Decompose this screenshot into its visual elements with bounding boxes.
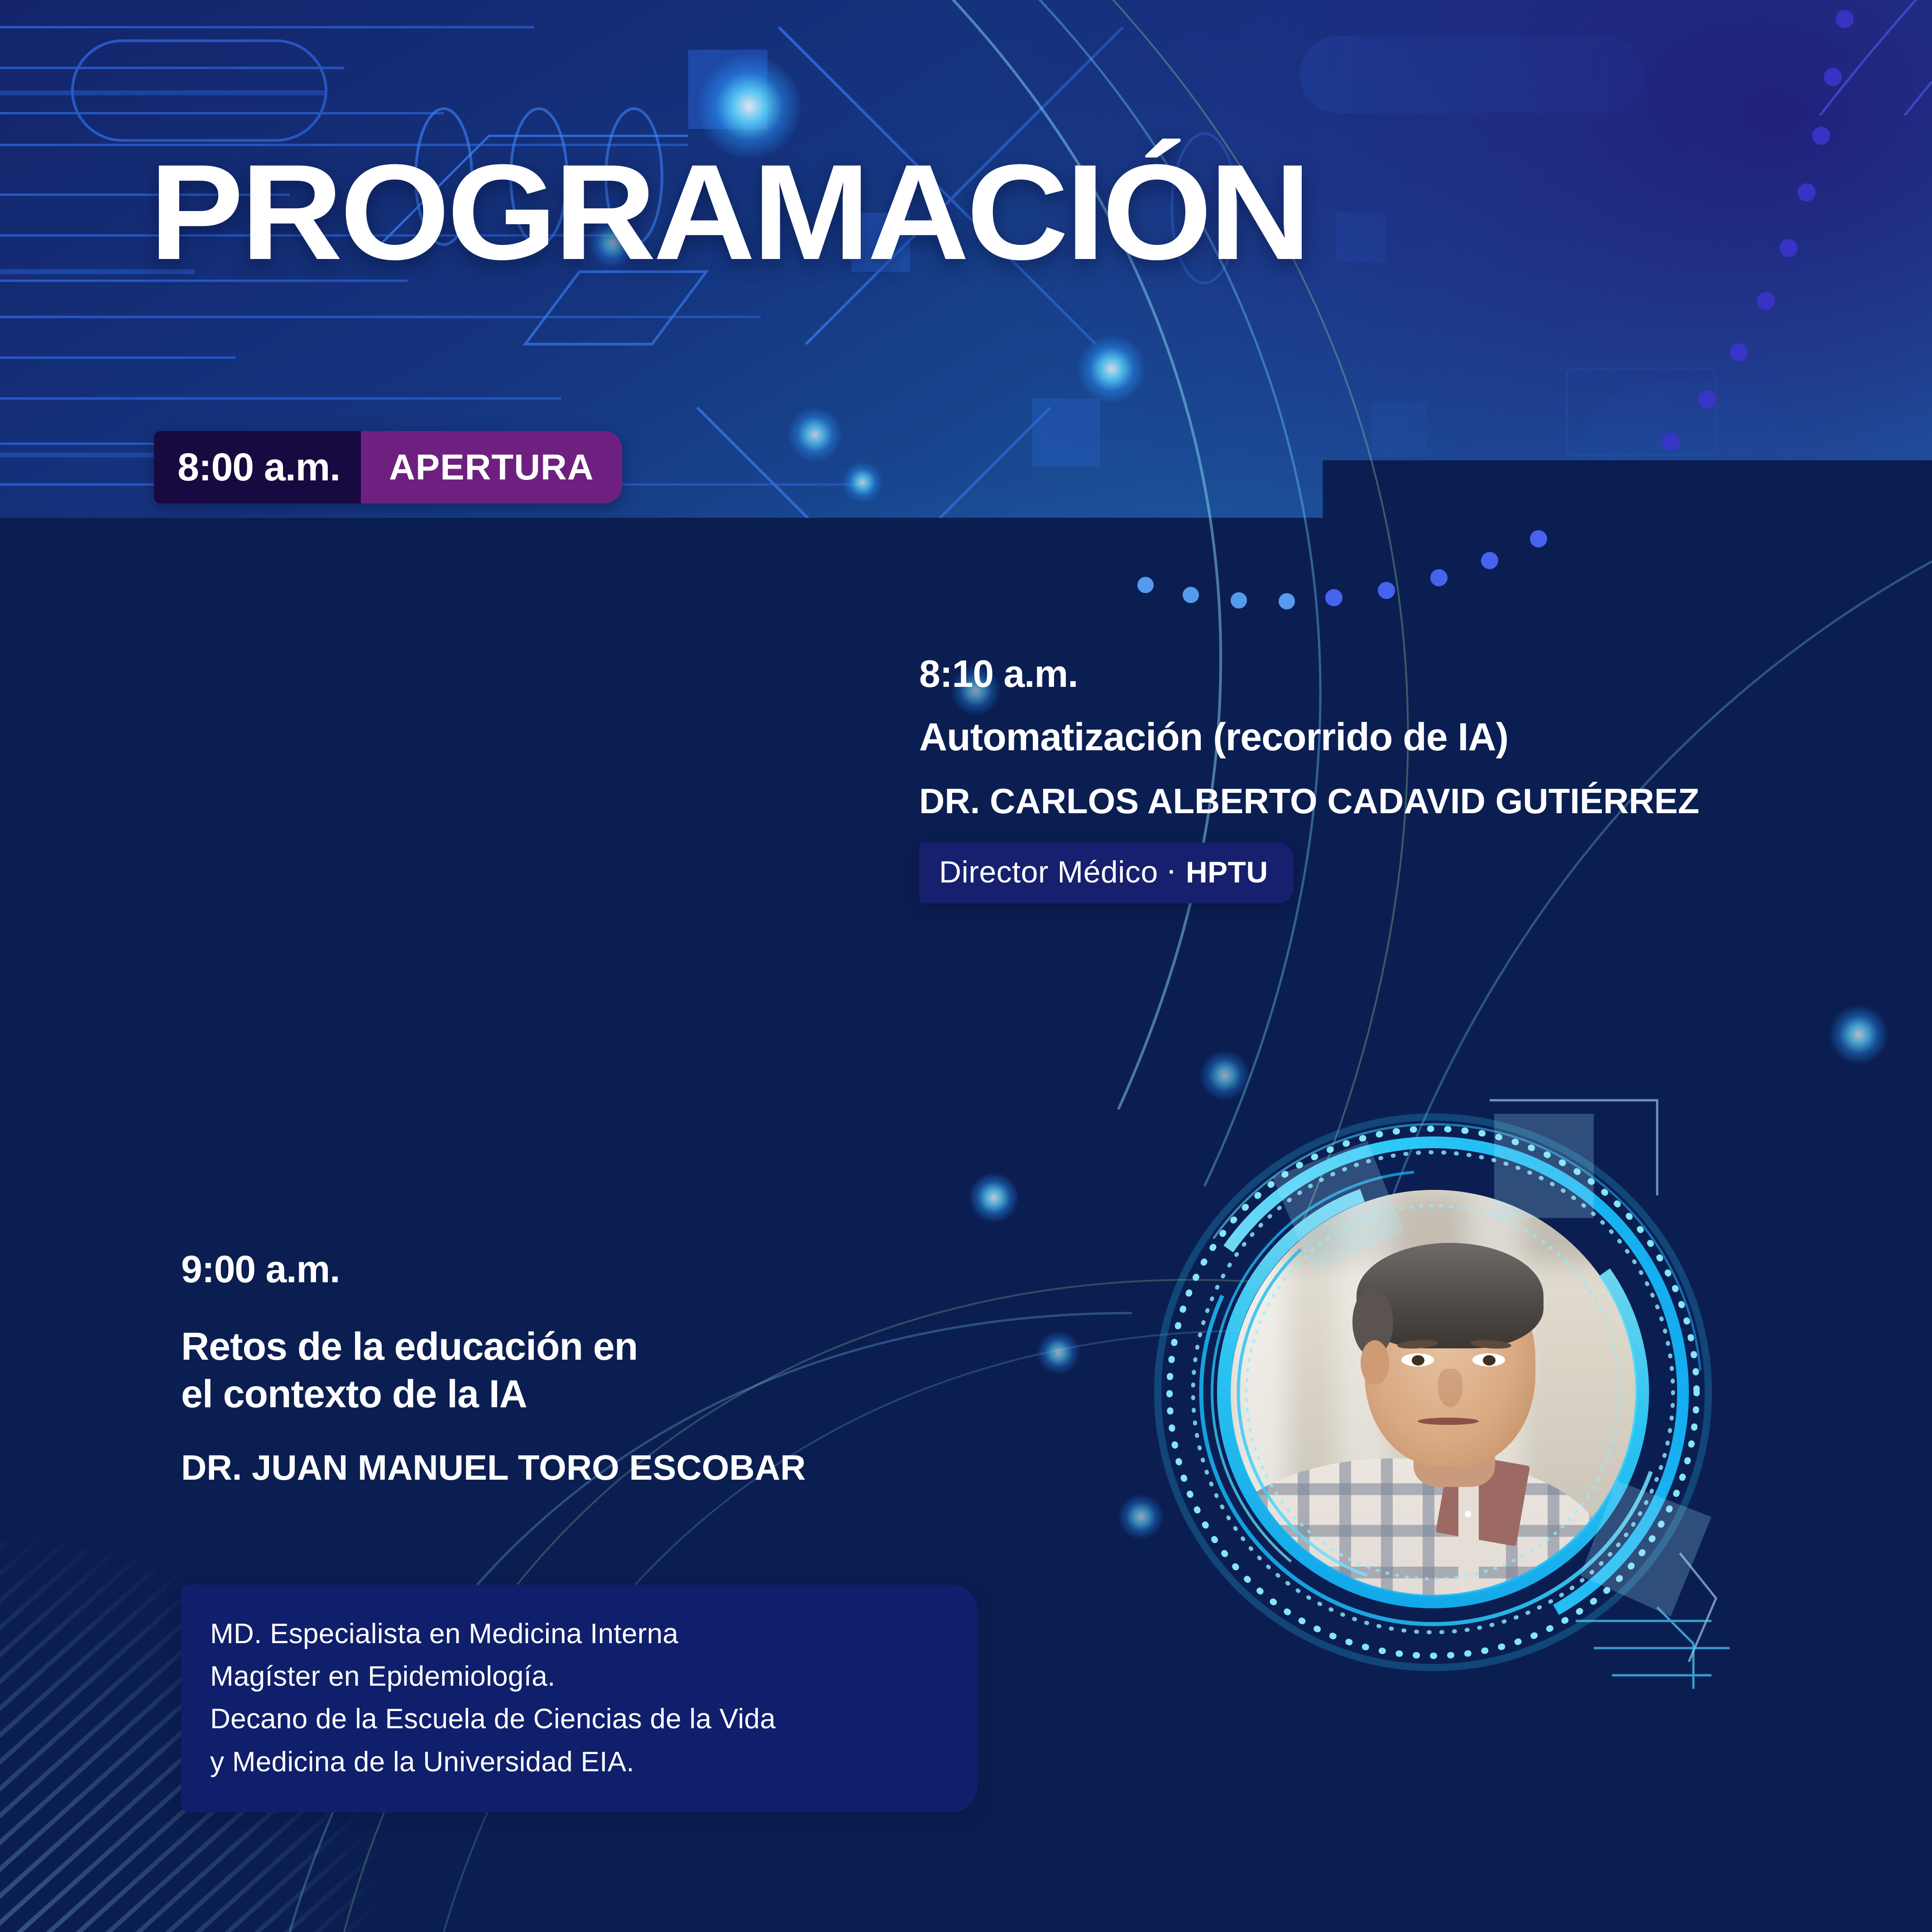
- session-1-time: 8:10 a.m.: [919, 652, 1816, 696]
- bio-line: Decano de la Escuela de Ciencias de la V…: [210, 1698, 946, 1740]
- opening-time: 8:00 a.m.: [154, 431, 361, 503]
- session-2-title: Retos de la educación en el contexto de …: [181, 1323, 1087, 1418]
- session-2-bio-box: MD. Especialista en Medicina Interna Mag…: [181, 1585, 978, 1812]
- speaker-photo-2: [1123, 1082, 1743, 1702]
- session-1-role: Director Médico: [939, 854, 1158, 890]
- session-1-speaker: DR. CARLOS ALBERTO CADAVID GUTIÉRREZ: [919, 781, 1816, 822]
- opening-badge: 8:00 a.m. APERTURA: [154, 431, 622, 503]
- speaker-photo-1: [136, 568, 765, 1198]
- bio-line: MD. Especialista en Medicina Interna: [210, 1613, 946, 1655]
- page-title: PROGRAMACIÓN: [149, 144, 1854, 280]
- role-separator: ·: [1168, 858, 1176, 886]
- session-1: 8:10 a.m. Automatización (recorrido de I…: [919, 652, 1816, 903]
- session-2-title-line2: el contexto de la IA: [181, 1371, 1087, 1418]
- session-1-title: Automatización (recorrido de IA): [919, 715, 1816, 760]
- programacion-poster: PROGRAMACIÓN 8:00 a.m. APERTURA: [0, 0, 1932, 1932]
- tech-ring-2: [1123, 1082, 1743, 1702]
- opening-label: APERTURA: [361, 431, 622, 503]
- session-2-title-line1: Retos de la educación en: [181, 1323, 1087, 1371]
- session-1-organization: HPTU: [1186, 855, 1268, 889]
- session-2: 9:00 a.m. Retos de la educación en el co…: [181, 1247, 1087, 1488]
- bio-line: y Medicina de la Universidad EIA.: [210, 1741, 946, 1783]
- session-2-speaker: DR. JUAN MANUEL TORO ESCOBAR: [181, 1447, 1087, 1488]
- tech-ring-1: [136, 568, 765, 1198]
- bio-line: Magíster en Epidemiología.: [210, 1655, 946, 1698]
- next-slide-button[interactable]: [1754, 1755, 1859, 1860]
- session-1-role-badge: Director Médico · HPTU: [919, 843, 1294, 903]
- session-2-time: 9:00 a.m.: [181, 1247, 1087, 1291]
- chevron-right-icon: [1784, 1773, 1828, 1841]
